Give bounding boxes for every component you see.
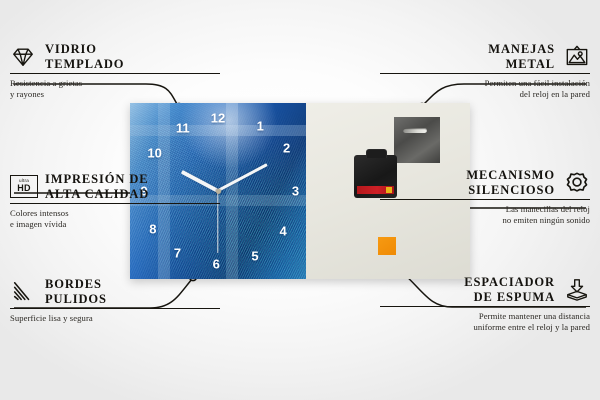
ultra-hd-icon-main-text: HD bbox=[17, 184, 31, 193]
clock-numeral: 11 bbox=[176, 122, 190, 135]
clock-numeral: 12 bbox=[211, 112, 225, 125]
feature-bordes-pulidos: BORDES PULIDOS Superficie lisa y segura bbox=[10, 277, 220, 324]
feature-heading: ultra HD IMPRESIÓN DE ALTA CALIDAD bbox=[10, 172, 220, 203]
feature-description: Permite mantener una distancia uniforme … bbox=[380, 311, 590, 333]
feature-title: MANEJAS METAL bbox=[488, 42, 555, 71]
clock-numeral: 5 bbox=[251, 250, 258, 263]
polished-edge-icon bbox=[10, 280, 36, 304]
clock-numeral: 4 bbox=[279, 225, 286, 238]
diamond-icon bbox=[10, 45, 36, 69]
clock-numeral: 3 bbox=[292, 185, 299, 198]
feature-impresion-alta-calidad: ultra HD IMPRESIÓN DE ALTA CALIDAD Color… bbox=[10, 172, 220, 230]
feature-divider bbox=[380, 199, 590, 200]
gear-icon bbox=[564, 171, 590, 195]
feature-heading: MANEJAS METAL bbox=[380, 42, 590, 73]
feature-divider bbox=[10, 73, 220, 74]
clock-numeral: 2 bbox=[283, 142, 290, 155]
feature-divider bbox=[380, 73, 590, 74]
feature-mecanismo-silencioso: MECANISMO SILENCIOSO Las manecillas del … bbox=[380, 168, 590, 226]
feature-heading: MECANISMO SILENCIOSO bbox=[380, 168, 590, 199]
feature-divider bbox=[380, 306, 590, 307]
infographic-canvas: 12 1 2 3 4 5 6 7 8 9 10 11 bbox=[0, 0, 600, 400]
orange-foam-spacer bbox=[378, 237, 396, 255]
feature-title: BORDES PULIDOS bbox=[45, 277, 107, 306]
feature-divider bbox=[10, 308, 220, 309]
clock-numeral: 6 bbox=[213, 258, 220, 271]
feature-description: Permiten una fácil instalación del reloj… bbox=[380, 78, 590, 100]
feature-espaciador-de-espuma: ESPACIADOR DE ESPUMA Permite mantener un… bbox=[380, 275, 590, 333]
feature-title: MECANISMO SILENCIOSO bbox=[466, 168, 555, 197]
clock-numeral: 1 bbox=[257, 120, 264, 133]
feature-heading: VIDRIO TEMPLADO bbox=[10, 42, 220, 73]
feature-description: Superficie lisa y segura bbox=[10, 313, 220, 324]
feature-description: Las manecillas del reloj no emiten ningú… bbox=[380, 204, 590, 226]
metal-hanger-plate bbox=[394, 117, 440, 163]
feature-description: Colores intensos e imagen vívida bbox=[10, 208, 220, 230]
clock-numeral: 10 bbox=[147, 147, 161, 160]
feature-manejas-metal: MANEJAS METAL Permiten una fácil instala… bbox=[380, 42, 590, 100]
feature-title: VIDRIO TEMPLADO bbox=[45, 42, 124, 71]
feature-title: IMPRESIÓN DE ALTA CALIDAD bbox=[45, 172, 149, 201]
picture-hanger-icon bbox=[564, 45, 590, 69]
feature-divider bbox=[10, 203, 220, 204]
feature-description: Resistencia a grietas y rayones bbox=[10, 78, 220, 100]
feature-heading: ESPACIADOR DE ESPUMA bbox=[380, 275, 590, 306]
hanger-slot bbox=[403, 128, 427, 133]
feature-title: ESPACIADOR DE ESPUMA bbox=[464, 275, 555, 304]
movement-hook bbox=[366, 149, 387, 158]
feature-heading: BORDES PULIDOS bbox=[10, 277, 220, 308]
ultra-hd-icon: ultra HD bbox=[10, 175, 36, 199]
feature-vidrio-templado: VIDRIO TEMPLADO Resistencia a grietas y … bbox=[10, 42, 220, 100]
clock-numeral: 7 bbox=[174, 247, 181, 260]
foam-spacer-icon bbox=[564, 278, 590, 302]
